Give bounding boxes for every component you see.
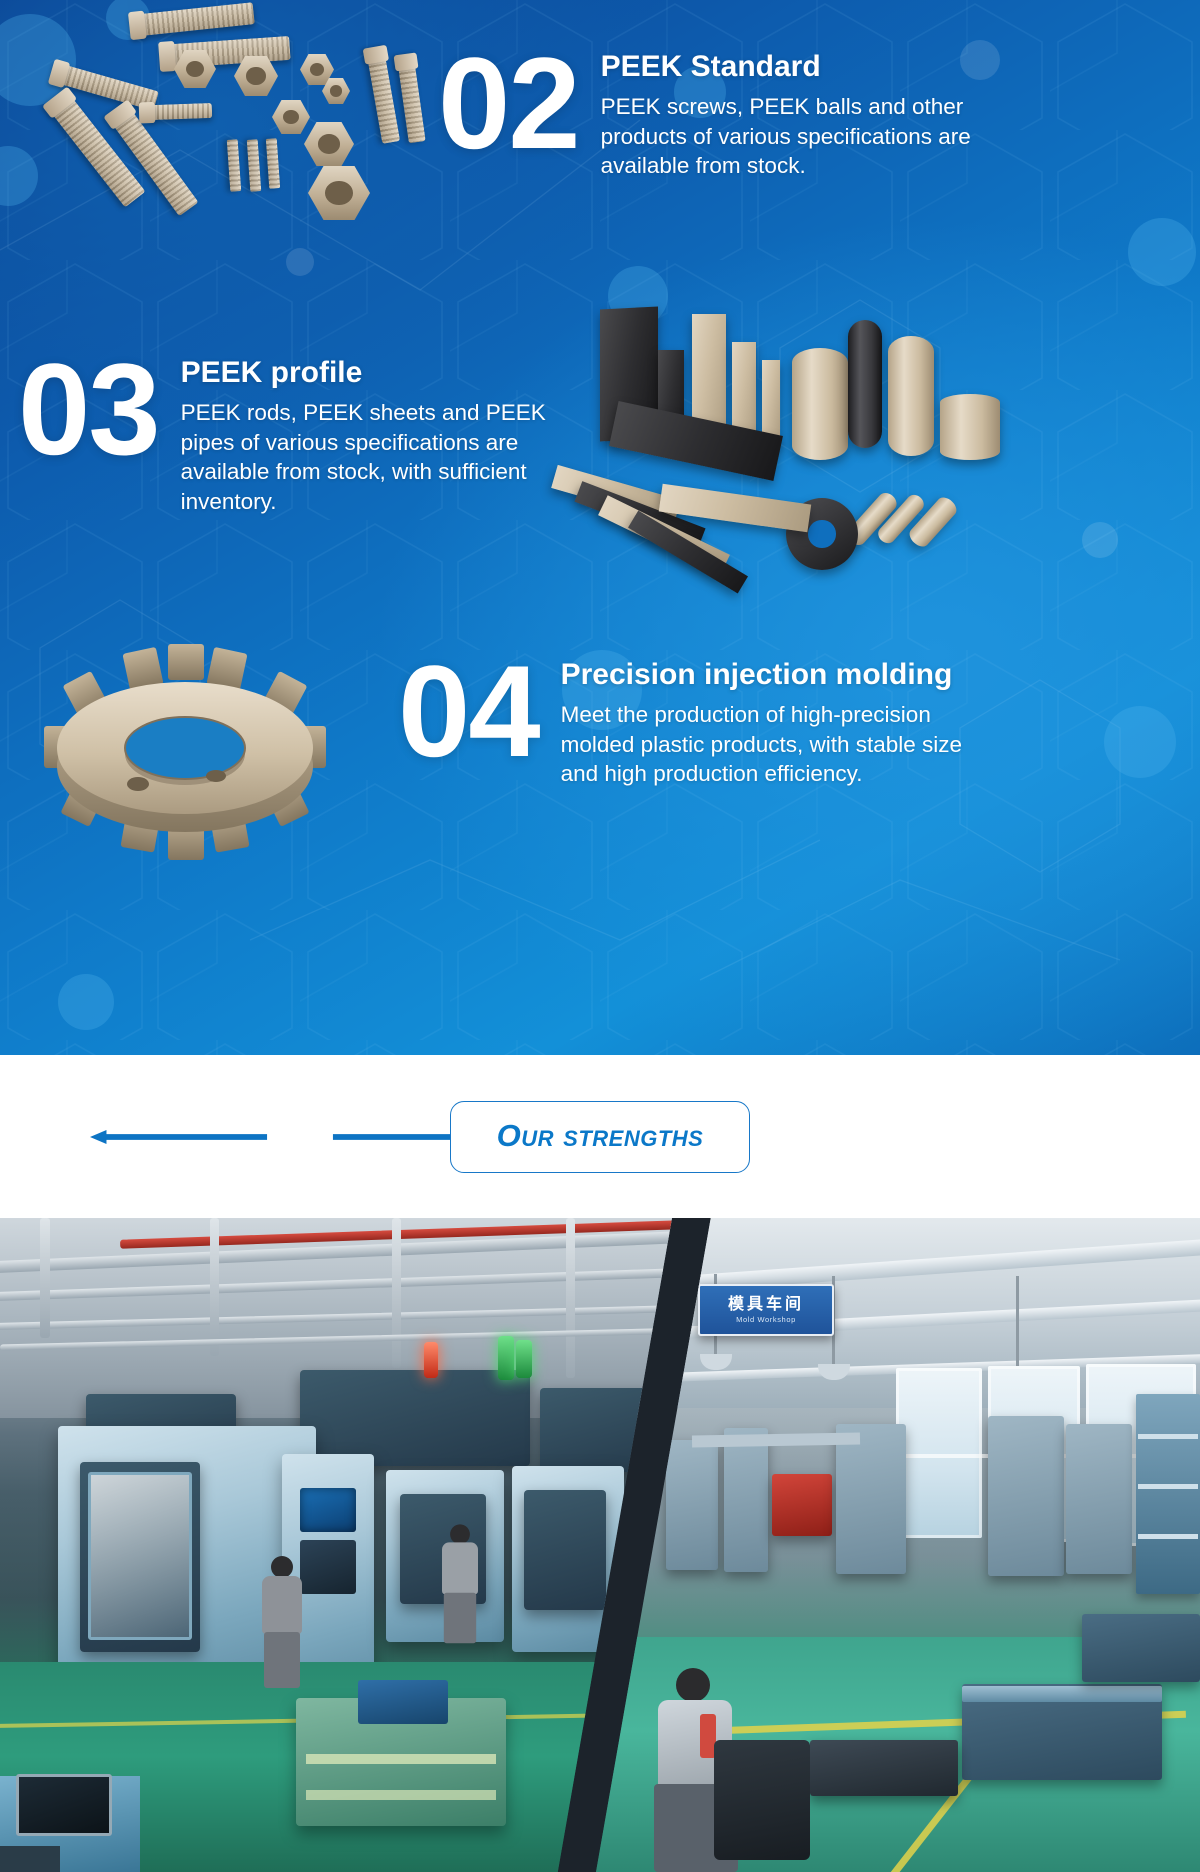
worker-figure [252, 1556, 312, 1696]
highlight-body-03: PEEK rods, PEEK sheets and PEEK pipes of… [181, 398, 551, 518]
highlight-row-03: 03 PEEK profile PEEK rods, PEEK sheets a… [18, 350, 551, 517]
highlight-number-03: 03 [18, 350, 159, 470]
our-strengths-pill: Our strengths [450, 1101, 750, 1173]
highlight-heading-02: PEEK Standard [601, 50, 981, 84]
highlight-number-02: 02 [438, 44, 579, 164]
highlight-heading-04: Precision injection molding [561, 658, 977, 692]
sign-text-en: Mold Workshop [736, 1315, 796, 1324]
highlight-row-04: 04 Precision injection molding Meet the … [398, 652, 977, 789]
highlight-body-02: PEEK screws, PEEK balls and other produc… [601, 92, 981, 182]
worker-figure [437, 1524, 484, 1639]
highlight-number-04: 04 [398, 652, 539, 772]
peek-screws-nuts-bolts-photo [22, 0, 442, 270]
peek-rods-sheets-pipes-photo [540, 298, 1010, 598]
left-arrow-icon [90, 1130, 106, 1144]
highlight-heading-03: PEEK profile [181, 356, 551, 390]
factory-photo-strip: 模具车间 Mold Workshop [0, 1218, 1200, 1872]
highlight-body-04: Meet the production of high-precision mo… [561, 700, 977, 790]
product-highlights-hero: 02 PEEK Standard PEEK screws, PEEK balls… [0, 0, 1200, 1055]
highlight-row-02: 02 PEEK Standard PEEK screws, PEEK balls… [438, 44, 981, 181]
our-strengths-banner: Our strengths [0, 1055, 1200, 1218]
sign-text-cn: 模具车间 [728, 1296, 804, 1314]
double-arrow-divider [90, 1130, 510, 1144]
mold-workshop-sign: 模具车间 Mold Workshop [698, 1284, 834, 1336]
mold-workshop-photo: 模具车间 Mold Workshop [596, 1218, 1200, 1872]
peek-gear-ring-photo [30, 630, 340, 870]
cnc-machining-workshop-photo [0, 1218, 672, 1872]
our-strengths-label: Our strengths [497, 1118, 704, 1153]
